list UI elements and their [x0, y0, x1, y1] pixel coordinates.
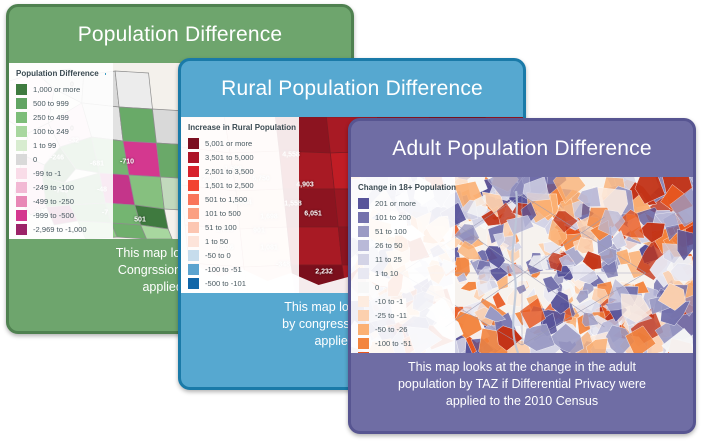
legend-swatch [358, 254, 369, 265]
legend-item-label: 26 to 50 [375, 241, 402, 250]
legend-item-label: -200 to -101 [375, 353, 416, 354]
description-line: This map looks at the change in the adul… [359, 359, 685, 376]
card-title-rural-population-difference: Rural Population Difference [181, 61, 523, 117]
legend-item-label: -50 to -26 [375, 325, 408, 334]
map-value-label: -710 [120, 159, 134, 166]
legend-swatch [188, 208, 199, 219]
legend-swatch [16, 168, 27, 179]
legend-swatch [188, 250, 199, 261]
legend-item-label: -50 to 0 [205, 251, 231, 260]
legend-item[interactable]: -500 to -101 [188, 276, 291, 290]
legend-item[interactable]: 1 to 99 [16, 138, 105, 152]
legend-item-label: -249 to -100 [33, 183, 74, 192]
legend-swatch [358, 226, 369, 237]
legend-item-label: -500 to -101 [205, 279, 246, 288]
legend-item-label: 1 to 50 [205, 237, 228, 246]
legend-swatch [358, 324, 369, 335]
legend-item[interactable]: 101 to 200 [358, 210, 447, 224]
legend-item-label: 1,000 or more [33, 85, 80, 94]
legend-item[interactable]: -10 to -1 [358, 294, 447, 308]
card-title-adult-population-difference: Adult Population Difference [351, 121, 693, 177]
legend-swatch [16, 98, 27, 109]
map-value-label: 2,232 [315, 269, 333, 276]
legend-item-label: 3,501 to 5,000 [205, 153, 254, 162]
legend-item[interactable]: -249 to -100 [16, 180, 105, 194]
legend-header: Increase in Rural Population [188, 123, 291, 132]
legend-item-label: 0 [375, 283, 379, 292]
legend-header: Change in 18+ Population [358, 183, 447, 192]
legend-population-difference[interactable]: Population Difference 1,000 or more500 t… [9, 63, 113, 239]
map-value-label: 6,051 [304, 211, 322, 218]
legend-swatch [188, 180, 199, 191]
legend-item-label: 501 to 1,500 [205, 195, 247, 204]
legend-item-label: 1,501 to 2,500 [205, 181, 254, 190]
legend-swatch [188, 152, 199, 163]
legend-swatch [16, 210, 27, 221]
legend-item[interactable]: 100 to 249 [16, 124, 105, 138]
legend-swatch [188, 138, 199, 149]
legend-item[interactable]: 5,001 or more [188, 136, 291, 150]
legend-swatch [358, 352, 369, 354]
legend-item[interactable]: 11 to 25 [358, 252, 447, 266]
legend-item-label: -499 to -250 [33, 197, 74, 206]
legend-item-label: 1 to 99 [33, 141, 56, 150]
legend-swatch [358, 198, 369, 209]
legend-item[interactable]: -499 to -250 [16, 194, 105, 208]
legend-item-label: 101 to 200 [375, 213, 411, 222]
legend-item-label: -25 to -11 [375, 311, 407, 320]
legend-item[interactable]: 250 to 499 [16, 110, 105, 124]
legend-item[interactable]: 1 to 10 [358, 266, 447, 280]
map-adult-population-difference[interactable]: Change in 18+ Population 201 or more101 … [351, 177, 693, 353]
legend-item-label: -10 to -1 [375, 297, 403, 306]
legend-swatch [358, 212, 369, 223]
legend-item[interactable]: 1 to 50 [188, 234, 291, 248]
legend-swatch [188, 236, 199, 247]
legend-item-label: 11 to 25 [375, 255, 402, 264]
legend-item[interactable]: 0 [358, 280, 447, 294]
legend-item-label: 0 [33, 155, 37, 164]
legend-items: 5,001 or more3,501 to 5,0002,501 to 3,50… [188, 136, 291, 290]
legend-swatch [188, 166, 199, 177]
legend-item[interactable]: 26 to 50 [358, 238, 447, 252]
legend-item-label: 201 or more [375, 199, 416, 208]
legend-item[interactable]: -999 to -500 [16, 208, 105, 222]
legend-swatch [358, 296, 369, 307]
description-line: population by TAZ if Differential Privac… [359, 376, 685, 393]
legend-item[interactable]: 1,501 to 2,500 [188, 178, 291, 192]
legend-item-label: 2,501 to 3,500 [205, 167, 254, 176]
legend-item[interactable]: -25 to -11 [358, 308, 447, 322]
legend-swatch [16, 84, 27, 95]
legend-item[interactable]: 51 to 100 [188, 220, 291, 234]
legend-item[interactable]: 201 or more [358, 196, 447, 210]
legend-swatch [16, 196, 27, 207]
legend-swatch [358, 338, 369, 349]
legend-title-text: Increase in Rural Population [188, 123, 296, 132]
slide-canvas: Population Difference [0, 0, 718, 444]
legend-item-label: 100 to 249 [33, 127, 69, 136]
card-description-adult-population-difference: This map looks at the change in the adul… [351, 353, 693, 420]
legend-swatch [16, 154, 27, 165]
legend-swatch [16, 182, 27, 193]
legend-title-text: Population Difference [16, 69, 99, 78]
legend-item[interactable]: -200 to -101 [358, 350, 447, 353]
legend-swatch [188, 278, 199, 289]
legend-item[interactable]: 501 to 1,500 [188, 192, 291, 206]
legend-item-label: 5,001 or more [205, 139, 252, 148]
legend-item-label: -999 to -500 [33, 211, 74, 220]
legend-item[interactable]: 3,501 to 5,000 [188, 150, 291, 164]
legend-item[interactable]: 500 to 999 [16, 96, 105, 110]
legend-swatch [188, 194, 199, 205]
card-title-population-difference: Population Difference [9, 7, 351, 63]
legend-swatch [188, 222, 199, 233]
legend-item[interactable]: 101 to 500 [188, 206, 291, 220]
legend-item-label: -100 to -51 [205, 265, 242, 274]
legend-items: 1,000 or more500 to 999250 to 499100 to … [16, 82, 105, 236]
legend-swatch [16, 140, 27, 151]
legend-swatch [16, 126, 27, 137]
legend-adult-population[interactable]: Change in 18+ Population 201 or more101 … [351, 177, 455, 353]
legend-swatch [358, 268, 369, 279]
legend-item-label: 250 to 499 [33, 113, 69, 122]
card-adult-population-difference[interactable]: Adult Population Difference [348, 118, 696, 434]
legend-swatch [16, 112, 27, 123]
legend-title-text: Change in 18+ Population [358, 183, 456, 192]
legend-item-label: 101 to 500 [205, 209, 241, 218]
legend-item-label: 51 to 100 [205, 223, 237, 232]
legend-item[interactable]: 2,501 to 3,500 [188, 164, 291, 178]
legend-item-label: 51 to 100 [375, 227, 407, 236]
legend-item[interactable]: 51 to 100 [358, 224, 447, 238]
legend-item[interactable]: -100 to -51 [358, 336, 447, 350]
legend-swatch [358, 282, 369, 293]
legend-items: 201 or more101 to 20051 to 10026 to 5011… [358, 196, 447, 353]
description-line: applied to the 2010 Census [359, 393, 685, 410]
legend-item-label: -99 to -1 [33, 169, 61, 178]
legend-item[interactable]: -100 to -51 [188, 262, 291, 276]
legend-swatch [188, 264, 199, 275]
legend-item[interactable]: -50 to 0 [188, 248, 291, 262]
legend-rural-population[interactable]: Increase in Rural Population 5,001 or mo… [181, 117, 299, 293]
legend-item[interactable]: -99 to -1 [16, 166, 105, 180]
legend-swatch [358, 240, 369, 251]
legend-item-label: -2,969 to -1,000 [33, 225, 87, 234]
legend-item[interactable]: 0 [16, 152, 105, 166]
legend-item[interactable]: 1,000 or more [16, 82, 105, 96]
legend-item[interactable]: -50 to -26 [358, 322, 447, 336]
map-value-label: 501 [134, 217, 146, 224]
legend-item[interactable]: -2,969 to -1,000 [16, 222, 105, 236]
legend-swatch [358, 310, 369, 321]
legend-swatch [16, 224, 27, 235]
legend-header: Population Difference [16, 69, 105, 78]
legend-item-label: -100 to -51 [375, 339, 412, 348]
legend-item-label: 500 to 999 [33, 99, 69, 108]
legend-item-label: 1 to 10 [375, 269, 398, 278]
